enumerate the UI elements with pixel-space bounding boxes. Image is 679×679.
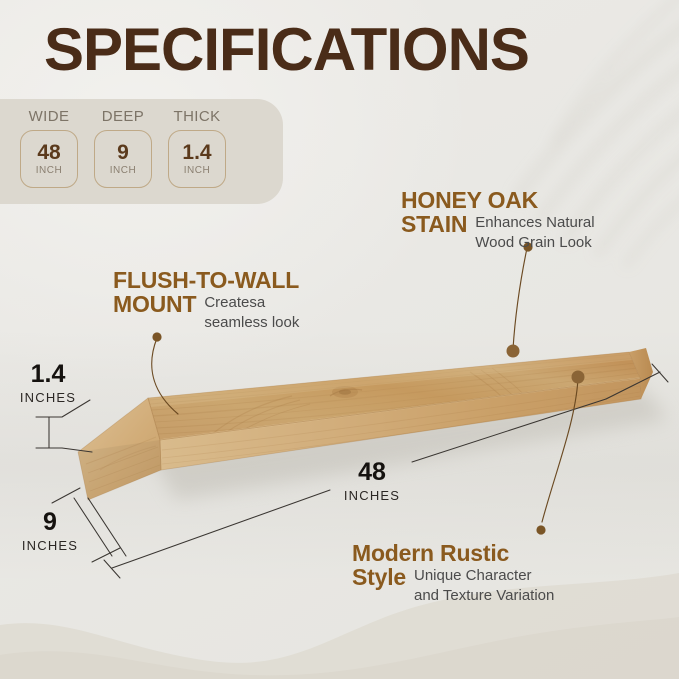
callout-rustic-sub-line1: Unique Character [414, 565, 554, 585]
dimension-label-thickness: 1.4 INCHES [10, 362, 86, 405]
callout-honey-oak-title-line1: HONEY OAK [401, 188, 663, 212]
dimension-label-depth: 9 INCHES [12, 510, 88, 553]
spec-item-wide: WIDE 48 INCH [18, 108, 80, 188]
dimension-unit-depth: INCHES [12, 538, 88, 553]
callout-flush-sub-line2: seamless look [204, 312, 299, 332]
dimension-unit-thickness: INCHES [10, 390, 86, 405]
spec-box-wide: 48 INCH [20, 130, 78, 188]
spec-item-thick: THICK 1.4 INCH [166, 108, 228, 188]
callout-honey-oak-title-line2: STAIN [401, 212, 467, 236]
spec-value-deep: 9 [117, 142, 129, 163]
dimension-label-width: 48 INCHES [330, 460, 414, 503]
specifications-panel: WIDE 48 INCH DEEP 9 INCH THICK 1.4 INCH [0, 99, 283, 204]
spec-unit-deep: INCH [110, 166, 136, 176]
spec-item-deep: DEEP 9 INCH [92, 108, 154, 188]
page-title: SPECIFICATIONS [44, 18, 529, 81]
callout-honey-oak-sub-line2: Wood Grain Look [475, 232, 594, 252]
spec-unit-wide: INCH [36, 166, 62, 176]
callout-flush-title-line1: FLUSH-TO-WALL [113, 268, 383, 292]
callout-flush-to-wall-mount: FLUSH-TO-WALL MOUNT Createsa seamless lo… [113, 268, 383, 332]
spec-box-thick: 1.4 INCH [168, 130, 226, 188]
callout-flush-title-line2: MOUNT [113, 292, 196, 316]
dimension-value-depth: 9 [12, 510, 88, 535]
callout-rustic-sub-line2: and Texture Variation [414, 585, 554, 605]
callout-honey-oak-sub-line1: Enhances Natural [475, 212, 594, 232]
spec-unit-thick: INCH [184, 166, 210, 176]
spec-value-thick: 1.4 [182, 142, 211, 163]
spec-value-wide: 48 [37, 142, 60, 163]
spec-box-deep: 9 INCH [94, 130, 152, 188]
callout-rustic-title-line1: Modern Rustic [352, 541, 652, 565]
callout-rustic-title-line2: Style [352, 565, 406, 589]
callout-flush-sub-line1: Createsa [204, 292, 299, 312]
dimension-value-thickness: 1.4 [10, 362, 86, 387]
callout-modern-rustic-style: Modern Rustic Style Unique Character and… [352, 541, 652, 605]
spec-label-wide: WIDE [18, 108, 80, 125]
dimension-value-width: 48 [330, 460, 414, 485]
spec-label-deep: DEEP [92, 108, 154, 125]
callout-honey-oak-stain: HONEY OAK STAIN Enhances Natural Wood Gr… [401, 188, 663, 252]
dimension-unit-width: INCHES [330, 488, 414, 503]
spec-label-thick: THICK [166, 108, 228, 125]
infographic-canvas: SPECIFICATIONS WIDE 48 INCH DEEP 9 INCH … [0, 0, 679, 679]
